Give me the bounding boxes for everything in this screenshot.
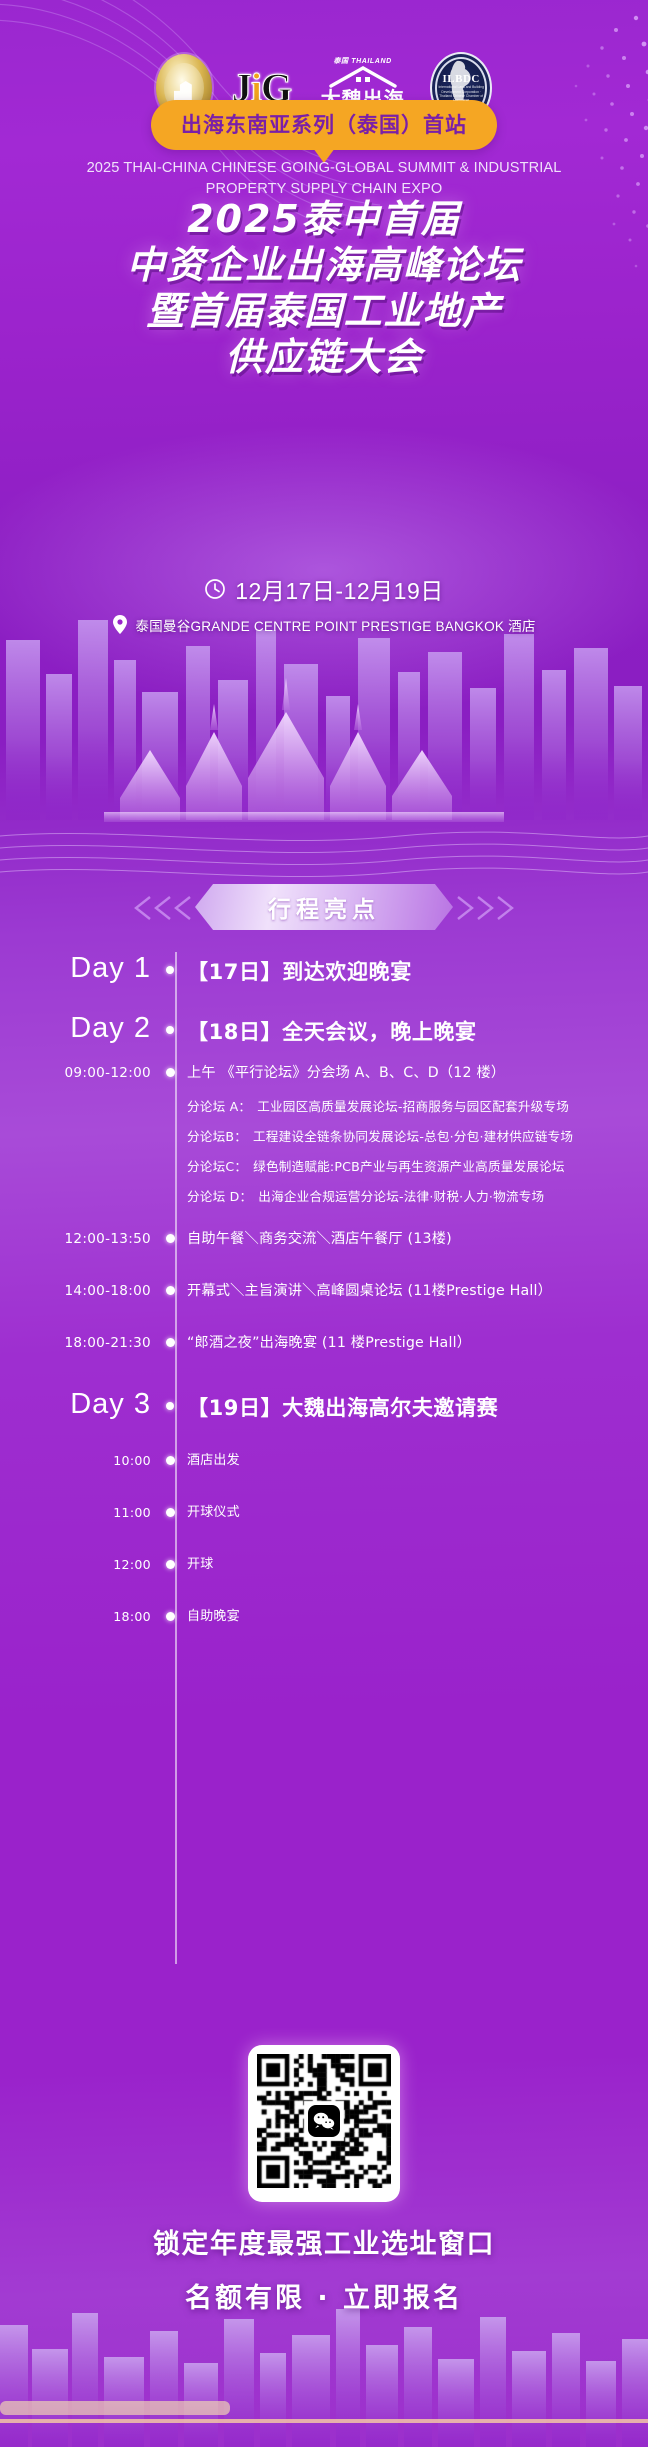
slot-text: 自助午餐＼商务交流＼酒店午餐厅 (13楼) — [187, 1228, 648, 1250]
slot-text: 开球仪式 — [187, 1502, 648, 1524]
house-roof-icon — [325, 66, 401, 88]
slot-time: 11:00 — [0, 1502, 163, 1520]
slot-time: 12:00 — [0, 1554, 163, 1572]
page-title-line-3: 暨首届泰国工业地产 — [0, 288, 648, 334]
slot-text: “郎酒之夜”出海晚宴 (11 楼Prestige Hall） — [187, 1332, 648, 1354]
subforum-text: 出海企业合规运营分论坛-法律·财税·人力·物流专场 — [258, 1186, 636, 1207]
event-poster: JiG 泰国 THAILAND 大魏出海 WEI'S GLOBAL REACH … — [0, 0, 648, 2447]
series-pill-label: 出海东南亚系列（泰国）首站 — [181, 113, 467, 137]
english-subtitle-line-1: 2025 THAI-CHINA CHINESE GOING-GLOBAL SUM… — [34, 158, 614, 179]
event-date-text: 12月17日-12月19日 — [235, 572, 444, 606]
logo-ilbdc-sublabel: International Land and Building Developm… — [435, 85, 487, 103]
qr-code-frame[interactable] — [248, 2045, 400, 2202]
schedule-slot-row: 14:00-18:00 开幕式＼主旨演讲＼高峰圆桌论坛 (11楼Prestige… — [0, 1280, 648, 1302]
location-pin-icon — [112, 614, 128, 636]
event-location: 泰国曼谷GRANDE CENTRE POINT PRESTIGE BANGKOK… — [0, 614, 648, 636]
subforum-label: 分论坛 D： — [187, 1186, 258, 1207]
section-banner-title: 行程亮点 — [268, 890, 380, 924]
slot-time: 18:00-21:30 — [0, 1332, 163, 1351]
glow-overlay — [0, 420, 648, 720]
schedule-day-row: Day 1 【17日】到达欢迎晚宴 — [0, 952, 648, 986]
subforum-item: 分论坛 D： 出海企业合规运营分论坛-法律·财税·人力·物流专场 — [187, 1186, 636, 1207]
slot-text: 酒店出发 — [187, 1450, 648, 1472]
day-label: Day 1 — [0, 952, 163, 985]
slot-time: 18:00 — [0, 1606, 163, 1624]
subforum-label: 分论坛C： — [187, 1156, 253, 1177]
section-banner: 行程亮点 — [0, 884, 648, 930]
day-label: Day 2 — [0, 1012, 163, 1045]
series-pill-container: 出海东南亚系列（泰国）首站 — [0, 100, 648, 150]
page-title: 2025泰中首届 中资企业出海高峰论坛 暨首届泰国工业地产 供应链大会 — [0, 196, 648, 380]
slot-time: 12:00-13:50 — [0, 1228, 163, 1247]
slot-time: 10:00 — [0, 1450, 163, 1468]
section-banner-plate: 行程亮点 — [195, 884, 453, 930]
bangkok-skyline-illustration — [0, 600, 648, 930]
cta-line-1: 锁定年度最强工业选址窗口 — [0, 2222, 648, 2261]
day-label: Day 3 — [0, 1388, 163, 1421]
right-chevron-decoration — [452, 895, 536, 921]
day-title: 【19日】大魏出海高尔夫邀请赛 — [187, 1388, 648, 1422]
slot-time: 09:00-12:00 — [0, 1062, 163, 1081]
schedule-day-row: Day 2 【18日】全天会议，晚上晚宴 — [0, 1012, 648, 1046]
page-title-line-4: 供应链大会 — [0, 334, 648, 380]
cta-line-2: 名额有限 · 立即报名 — [0, 2276, 648, 2315]
logo-dawei-thai-label: 泰国 THAILAND — [311, 58, 414, 65]
event-location-text: 泰国曼谷GRANDE CENTRE POINT PRESTIGE BANGKOK… — [135, 615, 535, 635]
slot-text: 开幕式＼主旨演讲＼高峰圆桌论坛 (11楼Prestige Hall） — [187, 1280, 648, 1302]
slot-text: 开球 — [187, 1554, 648, 1576]
bottom-skyline-illustration — [0, 2305, 648, 2447]
subforum-label: 分论坛 A： — [187, 1096, 257, 1117]
schedule-timeline: Day 1 【17日】到达欢迎晚宴 Day 2 【18日】全天会议，晚上晚宴 0… — [0, 952, 648, 1628]
wechat-icon — [308, 2105, 340, 2137]
clock-icon — [204, 578, 226, 600]
day-title: 【17日】到达欢迎晚宴 — [187, 952, 648, 986]
subforum-text: 绿色制造赋能:PCB产业与再生资源产业高质量发展论坛 — [253, 1156, 636, 1177]
subforum-item: 分论坛 A： 工业园区高质量发展论坛-招商服务与园区配套升级专场 — [187, 1096, 636, 1117]
schedule-slot-row: 18:00-21:30 “郎酒之夜”出海晚宴 (11 楼Prestige Hal… — [0, 1332, 648, 1354]
qr-code-section — [0, 2045, 648, 2202]
english-subtitle: 2025 THAI-CHINA CHINESE GOING-GLOBAL SUM… — [34, 158, 614, 199]
day-title: 【18日】全天会议，晚上晚宴 — [187, 1012, 648, 1046]
schedule-slot-row: 18:00 自助晚宴 — [0, 1606, 648, 1628]
subforum-item: 分论坛B： 工程建设全链条协同发展论坛-总包·分包·建材供应链专场 — [187, 1126, 636, 1147]
slot-text: 上午 《平行论坛》分会场 A、B、C、D（12 楼） — [187, 1062, 636, 1084]
slot-time: 14:00-18:00 — [0, 1280, 163, 1299]
schedule-slot-row: 12:00 开球 — [0, 1554, 648, 1576]
page-title-line-2: 中资企业出海高峰论坛 — [0, 242, 648, 288]
page-title-line-1: 2025泰中首届 — [0, 196, 648, 242]
schedule-slot-row: 11:00 开球仪式 — [0, 1502, 648, 1524]
subforum-list: 分论坛 A： 工业园区高质量发展论坛-招商服务与园区配套升级专场 分论坛B： 工… — [187, 1096, 636, 1207]
schedule-slot-row: 10:00 酒店出发 — [0, 1450, 648, 1472]
event-date: 12月17日-12月19日 — [0, 572, 648, 606]
slot-text: 自助晚宴 — [187, 1606, 648, 1628]
logo-ilbdc-label: ILBDC — [435, 73, 487, 85]
schedule-day-row: Day 3 【19日】大魏出海高尔夫邀请赛 — [0, 1388, 648, 1422]
subforum-label: 分论坛B： — [187, 1126, 253, 1147]
schedule-slot-row: 09:00-12:00 上午 《平行论坛》分会场 A、B、C、D（12 楼） 分… — [0, 1062, 648, 1216]
subforum-text: 工程建设全链条协同发展论坛-总包·分包·建材供应链专场 — [253, 1126, 636, 1147]
series-pill: 出海东南亚系列（泰国）首站 — [151, 100, 497, 150]
left-chevron-decoration — [112, 895, 196, 921]
subforum-text: 工业园区高质量发展论坛-招商服务与园区配套升级专场 — [257, 1096, 636, 1117]
schedule-slot-row: 12:00-13:50 自助午餐＼商务交流＼酒店午餐厅 (13楼) — [0, 1228, 648, 1250]
subforum-item: 分论坛C： 绿色制造赋能:PCB产业与再生资源产业高质量发展论坛 — [187, 1156, 636, 1177]
